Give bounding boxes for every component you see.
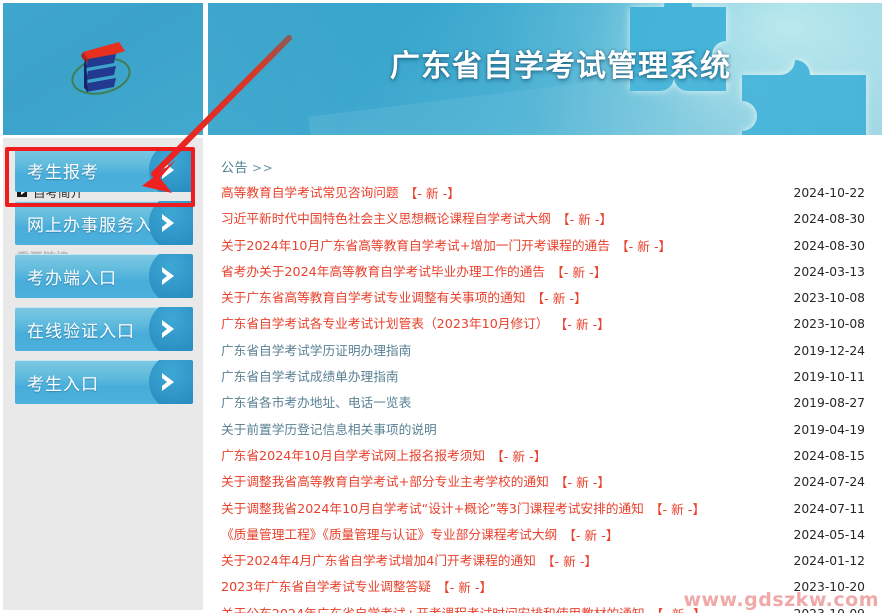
notice-date: 2023-10-20 [794, 574, 865, 600]
notice-header-arrows: >> [252, 161, 273, 175]
notice-date: 2019-12-24 [794, 338, 865, 364]
logo-icon [53, 26, 149, 116]
notice-row[interactable]: 关于2024年10月广东省高等教育自学考试+增加一门开考课程的通告【- 新 -】… [221, 233, 875, 259]
notice-title-link[interactable]: 关于2024年4月广东省自学考试增加4门开考课程的通知 [221, 548, 536, 574]
notice-row[interactable]: 广东省各市考办地址、电话一览表2019-08-27 [221, 390, 875, 416]
notice-new-badge: 【- 新 -】 [557, 212, 612, 227]
notice-date: 2019-04-19 [794, 417, 865, 443]
notice-title-link[interactable]: 广东省各市考办地址、电话一览表 [221, 390, 411, 416]
notice-new-badge: 【- 新 -】 [405, 186, 460, 201]
notice-title-link[interactable]: 关于调整我省2024年10月自学考试“设计+概论”等3门课程考试安排的通知 [221, 496, 644, 522]
main-content: 公告>> 高等教育自学考试常见咨询问题【- 新 -】2024-10-22习近平新… [211, 138, 885, 613]
chevron-right-icon [157, 318, 179, 340]
notice-date: 2024-08-30 [794, 206, 865, 232]
chevron-right-icon [157, 212, 179, 234]
notice-title-link[interactable]: 广东省自学考试各专业考试计划管表（2023年10月修订） [221, 311, 549, 337]
notice-new-badge: 【- 新 -】 [555, 317, 610, 332]
chevron-right-icon [157, 265, 179, 287]
sidebar-menu: 考生报考 网上办事服务入口 考办端入口 [3, 148, 203, 413]
notice-title-link[interactable]: 关于前置学历登记信息相关事项的说明 [221, 417, 437, 443]
notice-title-link[interactable]: 关于广东省高等教育自学考试专业调整有关事项的通知 [221, 285, 526, 311]
notice-date: 2024-07-24 [794, 469, 865, 495]
notice-date: 2024-03-13 [794, 259, 865, 285]
header-banner: 广东省自学考试管理系统 [208, 3, 882, 135]
notice-new-badge: 【- 新 -】 [532, 291, 587, 306]
notice-title-link[interactable]: 《质量管理工程》《质量管理与认证》专业部分课程考试大纲 [221, 522, 557, 548]
notice-row[interactable]: 《质量管理工程》《质量管理与认证》专业部分课程考试大纲【- 新 -】2024-0… [221, 522, 875, 548]
chevron-right-icon [157, 159, 179, 181]
notice-title-link[interactable]: 广东省自学考试成绩单办理指南 [221, 364, 399, 390]
notice-row[interactable]: 习近平新时代中国特色社会主义思想概论课程自学考试大纲【- 新 -】2024-08… [221, 206, 875, 232]
notice-date: 2024-07-11 [794, 496, 865, 522]
sidebar-item-label: 考办端入口 [27, 264, 117, 289]
notice-row[interactable]: 广东省自学考试学历证明办理指南2019-12-24 [221, 338, 875, 364]
notice-row[interactable]: 关于调整我省2024年10月自学考试“设计+概论”等3门课程考试安排的通知【- … [221, 496, 875, 522]
sidebar-item-wangshang-banshi[interactable]: 网上办事服务入口 [15, 201, 193, 245]
notice-row[interactable]: 广东省2024年10月自学考试网上报名报考须知【- 新 -】2024-08-15 [221, 443, 875, 469]
notice-row[interactable]: 关于调整我省高等教育自学考试+部分专业主考学校的通知【- 新 -】2024-07… [221, 469, 875, 495]
sidebar-item-kaoban-rukou[interactable]: 考办端入口 [15, 254, 193, 298]
notice-new-badge: 【- 新 -】 [616, 239, 671, 254]
notice-row[interactable]: 关于广东省高等教育自学考试专业调整有关事项的通知【- 新 -】2023-10-0… [221, 285, 875, 311]
notice-date: 2023-10-08 [794, 285, 865, 311]
site-logo [53, 26, 149, 116]
notice-new-badge: 【- 新 -】 [651, 607, 706, 613]
notice-title-link[interactable]: 省考办关于2024年高等教育自学考试毕业办理工作的通告 [221, 259, 545, 285]
notice-date: 2024-10-22 [794, 180, 865, 206]
notice-new-badge: 【- 新 -】 [555, 475, 610, 490]
notice-section-header: 公告>> [221, 157, 273, 176]
notice-title-link[interactable]: 习近平新时代中国特色社会主义思想概论课程自学考试大纲 [221, 206, 551, 232]
notice-date: 2024-05-14 [794, 522, 865, 548]
notice-row[interactable]: 广东省自学考试成绩单办理指南2019-10-11 [221, 364, 875, 390]
notice-date: 2024-08-15 [794, 443, 865, 469]
page-title: 广东省自学考试管理系统 [390, 41, 820, 85]
notice-list: 高等教育自学考试常见咨询问题【- 新 -】2024-10-22习近平新时代中国特… [221, 180, 875, 613]
notice-new-badge: 【- 新 -】 [542, 554, 597, 569]
notice-new-badge: 【- 新 -】 [491, 449, 546, 464]
page-root: 广东省自学考试管理系统 考生报考 网上办事服务入口 考办端入口 [0, 0, 885, 613]
notice-header-label: 公告 [221, 161, 248, 176]
notice-row[interactable]: 省考办关于2024年高等教育自学考试毕业办理工作的通告【- 新 -】2024-0… [221, 259, 875, 285]
notice-row[interactable]: 2023年广东省自学考试专业调整答疑【- 新 -】2023-10-20 [221, 574, 875, 600]
sidebar-item-label: 考生报考 [27, 158, 99, 183]
notice-date: 2024-01-12 [794, 548, 865, 574]
sidebar-item-label: 在线验证入口 [27, 317, 135, 342]
notice-title-link[interactable]: 关于调整我省高等教育自学考试+部分专业主考学校的通知 [221, 469, 549, 495]
sidebar: 考生报考 网上办事服务入口 考办端入口 [3, 138, 203, 610]
sidebar-item-kaosheng-rukou[interactable]: 考生入口 [15, 360, 193, 404]
notice-new-badge: 【- 新 -】 [437, 580, 492, 595]
sidebar-item-label: 考生入口 [27, 370, 99, 395]
notice-row[interactable]: 关于公布2024年广东省自学考试+开考课程考试时间安排和使用教材的通知【- 新 … [221, 601, 875, 613]
notice-date: 2024-08-30 [794, 233, 865, 259]
sidebar-item-zaixian-yanzheng[interactable]: 在线验证入口 [15, 307, 193, 351]
site-header: 广东省自学考试管理系统 [0, 0, 885, 138]
notice-row[interactable]: 广东省自学考试各专业考试计划管表（2023年10月修订）【- 新 -】2023-… [221, 311, 875, 337]
notice-date: 2019-08-27 [794, 390, 865, 416]
notice-title-link[interactable]: 关于公布2024年广东省自学考试+开考课程考试时间安排和使用教材的通知 [221, 601, 645, 613]
notice-date: 2023-10-09 [794, 601, 865, 613]
notice-row[interactable]: 关于2024年4月广东省自学考试增加4门开考课程的通知【- 新 -】2024-0… [221, 548, 875, 574]
notice-title-link[interactable]: 广东省自学考试学历证明办理指南 [221, 338, 411, 364]
sidebar-item-kaosheng-baokao[interactable]: 考生报考 [15, 148, 193, 192]
notice-date: 2019-10-11 [794, 364, 865, 390]
notice-row[interactable]: 高等教育自学考试常见咨询问题【- 新 -】2024-10-22 [221, 180, 875, 206]
notice-row[interactable]: 关于前置学历登记信息相关事项的说明2019-04-19 [221, 417, 875, 443]
notice-title-link[interactable]: 2023年广东省自学考试专业调整答疑 [221, 574, 431, 600]
notice-title-link[interactable]: 广东省2024年10月自学考试网上报名报考须知 [221, 443, 485, 469]
notice-new-badge: 【- 新 -】 [551, 265, 606, 280]
notice-new-badge: 【- 新 -】 [563, 528, 618, 543]
notice-title-link[interactable]: 高等教育自学考试常见咨询问题 [221, 180, 399, 206]
chevron-right-icon [157, 371, 179, 393]
notice-title-link[interactable]: 关于2024年10月广东省高等教育自学考试+增加一门开考课程的通告 [221, 233, 610, 259]
notice-date: 2023-10-08 [794, 311, 865, 337]
notice-new-badge: 【- 新 -】 [650, 502, 705, 517]
logo-panel [3, 3, 203, 135]
